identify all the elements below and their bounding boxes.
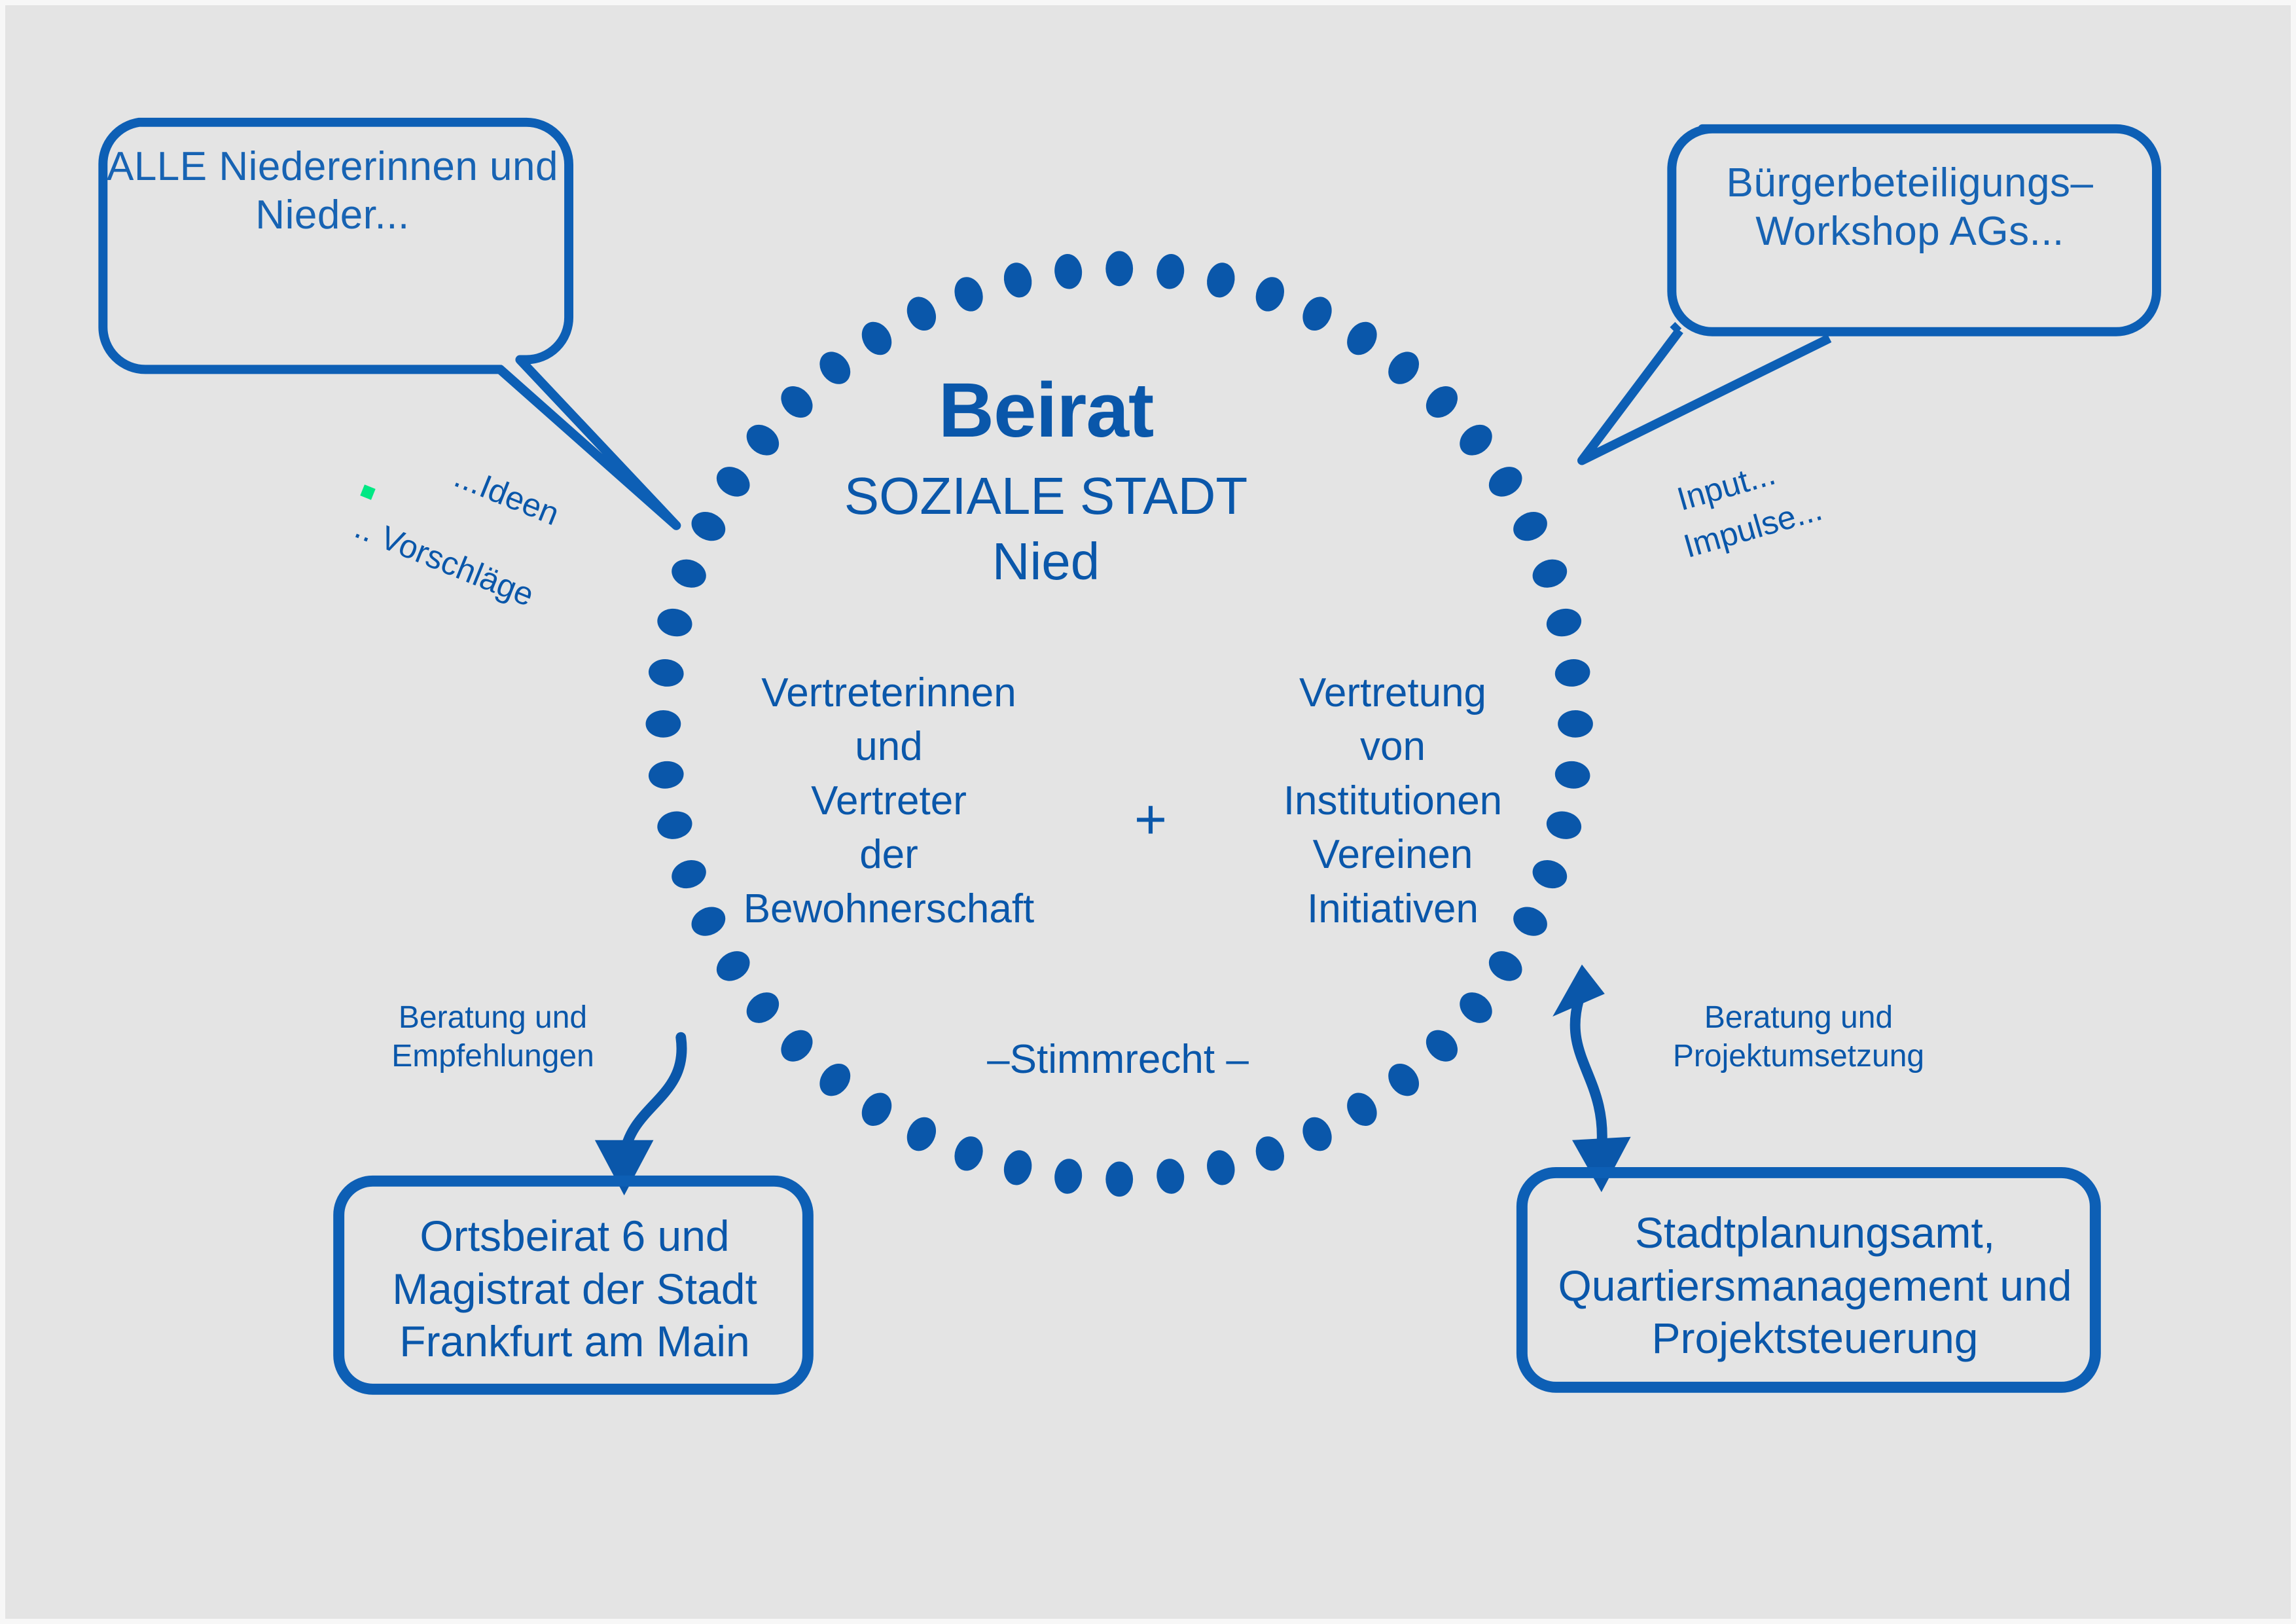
circle-dot xyxy=(901,292,941,335)
circle-dot xyxy=(1341,1087,1383,1132)
circle-dot xyxy=(1544,605,1585,640)
speech-bubble-top-right-label: Bürgerbeteiligungs– Workshop AGs... xyxy=(1677,159,2142,257)
circle-dot xyxy=(775,1024,819,1068)
circle-dot xyxy=(950,273,987,315)
circle-dot xyxy=(1483,461,1528,503)
circle-dot xyxy=(1251,273,1289,315)
circle-dot xyxy=(687,507,730,547)
centre-subtitle: SOZIALE STADT Nied xyxy=(784,463,1308,594)
centre-left-column: Vertreterinnen und Vertreter der Bewohne… xyxy=(673,666,1105,936)
circle-dot xyxy=(1204,260,1238,300)
speech-bubble-top-left-label: ALLE Niedererinnen und Nieder... xyxy=(103,143,562,240)
circle-dot xyxy=(1052,253,1084,291)
circle-dot xyxy=(655,605,695,640)
diagram-canvas: ALLE Niedererinnen und Nieder... Bürgerb… xyxy=(0,0,2296,1624)
circle-dot xyxy=(1001,260,1035,300)
circle-dot xyxy=(1001,1147,1035,1188)
circle-dot xyxy=(740,986,785,1029)
circle-dot xyxy=(950,1132,987,1174)
circle-dot xyxy=(1297,292,1337,335)
circle-dot xyxy=(1454,418,1498,461)
circle-dot xyxy=(814,1058,857,1102)
circle-dot xyxy=(1204,1147,1238,1188)
circle-dot xyxy=(1382,346,1426,390)
circle-dot xyxy=(711,945,755,987)
box-bottom-left-label: Ortsbeirat 6 und Magistrat der Stadt Fra… xyxy=(346,1210,804,1368)
circle-dot xyxy=(1052,1157,1084,1195)
circle-dot xyxy=(1297,1112,1337,1155)
circle-dot xyxy=(1420,1024,1464,1068)
centre-right-column: Vertretung von Institutionen Vereinen In… xyxy=(1196,666,1589,936)
arrow-beratung-projektumsetzung xyxy=(1552,964,1630,1192)
plus-operator: + xyxy=(1092,787,1210,852)
box-bottom-right-label: Stadtplanungsamt, Quartiersmanagement un… xyxy=(1543,1206,2087,1365)
circle-dot xyxy=(1420,380,1464,424)
circle-dot xyxy=(740,418,785,461)
circle-dot xyxy=(1483,945,1528,987)
circle-dot xyxy=(668,555,710,592)
circle-dot xyxy=(1509,507,1552,547)
circle-dot xyxy=(856,316,898,361)
circle-dot xyxy=(1251,1132,1289,1174)
circle-dot xyxy=(1382,1058,1426,1102)
circle-dot xyxy=(1105,251,1133,287)
circle-dot xyxy=(711,461,755,503)
stimmrecht-label: –Stimmrecht – xyxy=(922,1036,1314,1083)
circle-dot xyxy=(1341,316,1383,361)
annotation-beratung-projektumsetzung: Beratung und Projektumsetzung xyxy=(1641,999,1956,1075)
circle-dot xyxy=(856,1087,898,1132)
circle-dot xyxy=(901,1112,941,1155)
circle-dot xyxy=(1155,1157,1186,1195)
centre-title: Beirat xyxy=(784,365,1308,456)
circle-dot xyxy=(1529,555,1571,592)
circle-dot xyxy=(1454,986,1498,1029)
annotation-beratung-empfehlungen: Beratung und Empfehlungen xyxy=(346,999,640,1075)
circle-dot xyxy=(1155,253,1186,291)
circle-dot xyxy=(1105,1162,1133,1197)
